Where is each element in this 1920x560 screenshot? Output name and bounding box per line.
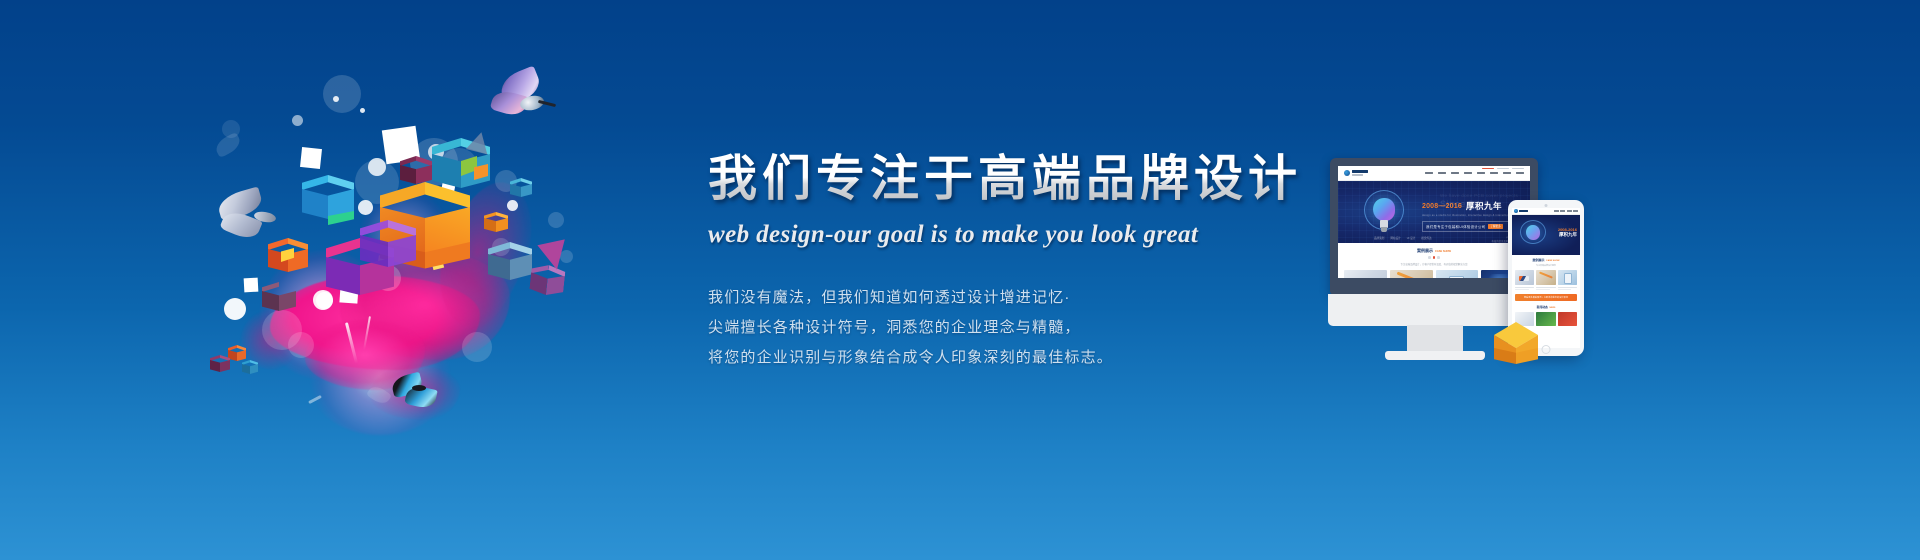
butterfly-blue-bottom: [392, 375, 444, 413]
mobile-news-title-text: 新闻动态: [1537, 305, 1548, 309]
logo-wordmark: [1352, 170, 1368, 173]
card-image: [1515, 270, 1534, 285]
case-thumbnail[interactable]: [1436, 270, 1479, 278]
mobile-news-title-sub: NEWS: [1549, 307, 1555, 309]
nav-item[interactable]: [1425, 172, 1433, 174]
device-mockup: We have done PCB cover projects Since 20…: [1330, 158, 1630, 398]
case-thumbnails: [1344, 270, 1524, 278]
front-camera-icon: [1545, 204, 1548, 207]
mobile-hero: 2008-2016 厚积九年: [1512, 215, 1580, 255]
mobile-bulb-core: [1526, 225, 1540, 240]
hero-tab[interactable]: UI 设计: [1407, 236, 1416, 240]
topbar-email: [1497, 168, 1509, 169]
mobile-section-title: 案例展示CASE SHOW: [1515, 258, 1577, 262]
cube-mini-3: [242, 360, 258, 378]
description-paragraph: 我们没有魔法，但我们知道如何透过设计增进记忆· 尖端擅长各种设计符号，洞悉您的企…: [708, 283, 1348, 373]
description-line-2: 尖端擅长各种设计符号，洞悉您的企业理念与精髓，: [708, 313, 1348, 343]
mobile-hero-text: 2008-2016 厚积九年: [1558, 227, 1577, 238]
card-desc-line: [1558, 289, 1572, 290]
mobile-lightbulb-graphic: [1520, 220, 1546, 250]
hero-tabs[interactable]: 品牌策划 网站设计 UI 设计 视觉传达: [1374, 236, 1432, 240]
cube-teal-tiny: [510, 178, 532, 202]
mobile-case-section: 案例展示CASE SHOW 专注高端品牌设计服务: [1512, 255, 1580, 326]
site-case-section: 案例展示CASE SHOW 专注高端品牌设计，为客户提供有温度、有价值的视觉解决…: [1338, 243, 1530, 278]
section-description: 专注高端品牌设计，为客户提供有温度、有价值的视觉解决方案: [1344, 262, 1524, 266]
logo-mark-icon: [1344, 170, 1350, 176]
page-subtitle: web design-our goal is to make you look …: [708, 221, 1348, 249]
mobile-case-grid: [1515, 270, 1577, 290]
topbar-phone: [1482, 168, 1494, 169]
site-logo[interactable]: [1344, 170, 1368, 176]
pyramid-magenta: [537, 239, 570, 272]
cube-slate-low: [262, 282, 296, 318]
cube-darkred: [400, 156, 432, 190]
cube-top-left-face: [1494, 322, 1538, 335]
card-desc-line: [1515, 289, 1529, 290]
monitor-foot: [1385, 351, 1485, 360]
monitor-screen: We have done PCB cover projects Since 20…: [1338, 166, 1530, 278]
nav-item[interactable]: [1516, 172, 1524, 174]
hero-watermark-main: Since 2008: [1440, 199, 1490, 209]
dot: [1437, 256, 1440, 259]
nav-item[interactable]: [1490, 172, 1498, 174]
dot: [1428, 256, 1431, 259]
mobile-hero-cn: 厚积九年: [1558, 232, 1577, 238]
orange-cube-ornament: [1494, 322, 1538, 368]
hero-tab[interactable]: 视觉传达: [1421, 236, 1431, 240]
site-navbar: [1338, 166, 1530, 181]
topbar-login: [1512, 168, 1524, 169]
site-nav-items[interactable]: [1425, 172, 1524, 174]
mobile-case-card[interactable]: [1558, 270, 1577, 290]
mobile-cta-label: 查看更多精彩案例 / 立即咨询我们的设计顾问: [1524, 296, 1568, 299]
lightbulb-graphic: [1364, 190, 1404, 234]
news-thumb[interactable]: [1536, 312, 1555, 326]
card-image: [1536, 270, 1555, 285]
section-title-sub: CASE SHOW: [1435, 250, 1451, 253]
card-title-line: [1536, 287, 1555, 289]
logo-tagline: [1352, 174, 1363, 176]
hero-tab[interactable]: 网站设计: [1390, 236, 1400, 240]
mobile-nav-items[interactable]: [1554, 210, 1579, 212]
card-image: [1558, 270, 1577, 285]
nav-item[interactable]: [1503, 172, 1511, 174]
cube-blue: [302, 175, 354, 231]
bulb-base: [1381, 227, 1387, 232]
cube-slate-right: [488, 242, 532, 290]
card-desc-line: [1536, 289, 1550, 290]
mobile-logo-wordmark: [1519, 210, 1528, 212]
nav-item[interactable]: [1451, 172, 1459, 174]
mobile-section-title-text: 案例展示: [1532, 258, 1544, 262]
page-title: 我们专注于高端品牌设计: [708, 152, 1348, 207]
dot-active: [1433, 256, 1436, 259]
site-hero: We have done PCB cover projects Since 20…: [1338, 181, 1530, 243]
hero-watermark-prefix: We have done PCB cover projects: [1440, 193, 1518, 198]
mobile-logo-icon: [1514, 209, 1518, 213]
site-topbar: [1482, 168, 1524, 169]
nav-item[interactable]: [1560, 210, 1565, 212]
case-thumbnail[interactable]: [1344, 270, 1387, 278]
bulb-core: [1373, 198, 1395, 221]
home-button[interactable]: [1542, 345, 1551, 354]
nav-item[interactable]: [1554, 210, 1559, 212]
mobile-cta-button[interactable]: 查看更多精彩案例 / 立即咨询我们的设计顾问: [1515, 294, 1577, 301]
description-line-1: 我们没有魔法，但我们知道如何透过设计增进记忆·: [708, 283, 1348, 313]
mobile-section-title-sub: CASE SHOW: [1546, 260, 1560, 262]
nav-item[interactable]: [1477, 172, 1485, 174]
section-title: 案例展示CASE SHOW: [1344, 248, 1524, 254]
website-preview-desktop: We have done PCB cover projects Since 20…: [1338, 166, 1530, 278]
hero-tab[interactable]: 品牌策划: [1374, 236, 1384, 240]
hero-tagline: 我们是专注于包装和UI体验设计公司: [1426, 224, 1485, 229]
desktop-monitor: We have done PCB cover projects Since 20…: [1330, 158, 1538, 296]
nav-item[interactable]: [1573, 210, 1578, 212]
hero-copy: 我们专注于高端品牌设计 web design-our goal is to ma…: [708, 152, 1348, 373]
nav-item[interactable]: [1464, 172, 1472, 174]
cube-mini-2: [210, 355, 230, 377]
nav-item[interactable]: [1567, 210, 1572, 212]
mobile-news-title: 新闻动态NEWS: [1515, 305, 1577, 309]
card-title-line: [1515, 287, 1534, 289]
mobile-case-card[interactable]: [1515, 270, 1534, 290]
butterfly-silver-left: [218, 190, 288, 246]
mobile-case-card[interactable]: [1536, 270, 1555, 290]
hero-artwork: [200, 60, 620, 460]
cube-purple: [360, 220, 416, 280]
mobile-section-description: 专注高端品牌设计服务: [1515, 264, 1577, 267]
section-dots: [1344, 256, 1524, 259]
section-title-text: 案例展示: [1417, 248, 1433, 253]
case-thumbnail[interactable]: [1390, 270, 1433, 278]
mobile-navbar: [1512, 208, 1580, 215]
description-line-3: 将您的企业识别与形象结合成令人印象深刻的最佳标志。: [708, 343, 1348, 373]
cube-orange-right: [484, 212, 508, 238]
card-title-line: [1558, 287, 1577, 289]
news-thumb[interactable]: [1558, 312, 1577, 326]
nav-item[interactable]: [1438, 172, 1446, 174]
butterfly-purple-top: [490, 72, 556, 124]
hero-cta-badge[interactable]: 了解更多: [1488, 224, 1502, 230]
